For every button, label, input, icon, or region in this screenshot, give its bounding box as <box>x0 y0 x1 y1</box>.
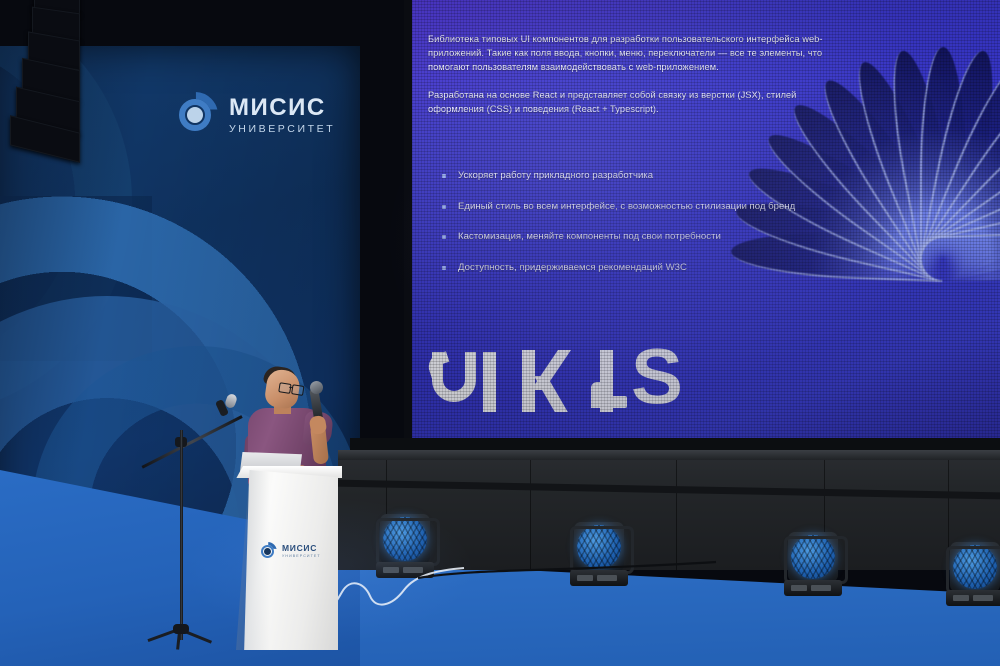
led-wash-light <box>944 540 1000 606</box>
podium-brand-title: МИСИС <box>282 544 321 553</box>
led-wash-light <box>782 530 844 596</box>
list-item: Доступность, придерживаемся рекомендаций… <box>442 261 828 275</box>
wordmark-letter-i2 <box>571 346 584 412</box>
wordmark-letter-k <box>522 346 568 412</box>
led-screen: Библиотека типовых UI компонентов для ра… <box>412 0 1000 458</box>
list-item: Кастомизация, меняйте компоненты под сво… <box>442 230 828 244</box>
backdrop-brand-subtitle: УНИВЕРСИТЕТ <box>229 124 335 135</box>
bullet-text: Единый стиль во всем интерфейсе, с возмо… <box>458 201 795 212</box>
bullet-text: Доступность, придерживаемся рекомендаций… <box>458 262 687 273</box>
wordmark-letter-u <box>432 346 476 412</box>
wordmark-space <box>496 402 522 412</box>
list-item: Единый стиль во всем интерфейсе, с возмо… <box>442 200 828 214</box>
slide-content: Библиотека типовых UI компонентов для ра… <box>428 32 828 292</box>
bullet-marker-icon <box>442 266 446 270</box>
podium-brand-subtitle: УНИВЕРСИТЕТ <box>282 555 321 559</box>
slide-bullet-list: Ускоряет работу прикладного разработчика… <box>428 169 828 274</box>
glasses-icon <box>279 382 304 394</box>
mic-stand-pole <box>180 430 183 640</box>
wordmark-letter-i <box>483 346 496 412</box>
bullet-marker-icon <box>442 174 446 178</box>
misis-logo-icon <box>172 92 218 138</box>
bullet-text: Кастомизация, меняйте компоненты под сво… <box>458 231 721 242</box>
podium-misis-logo: МИСИС УНИВЕРСИТЕТ <box>258 542 321 561</box>
wordmark-letter-t <box>587 346 627 412</box>
mic-stand-base <box>173 624 189 634</box>
bullet-marker-icon <box>442 235 446 239</box>
misis-logo-icon <box>258 542 277 561</box>
stage-riser-top <box>338 450 1000 460</box>
slide-paragraph-1: Библиотека типовых UI компонентов для ра… <box>428 32 828 75</box>
bullet-marker-icon <box>442 205 446 209</box>
led-wash-light <box>374 512 436 578</box>
list-item: Ускоряет работу прикладного разработчика <box>442 169 828 183</box>
ui-kits-wordmark: S <box>432 346 673 412</box>
wordmark-letter-s: S <box>631 346 673 412</box>
bullet-text: Ускоряет работу прикладного разработчика <box>458 170 653 181</box>
led-wash-light <box>568 520 630 586</box>
slide-paragraph-2: Разработана на основе React и представля… <box>428 88 828 116</box>
stage-photo: МИСИС УНИВЕРСИТЕТ <box>0 0 1000 666</box>
backdrop-misis-logo: МИСИС УНИВЕРСИТЕТ <box>172 92 335 138</box>
backdrop-brand-title: МИСИС <box>229 96 335 120</box>
line-array-speaker-icon <box>8 0 108 154</box>
